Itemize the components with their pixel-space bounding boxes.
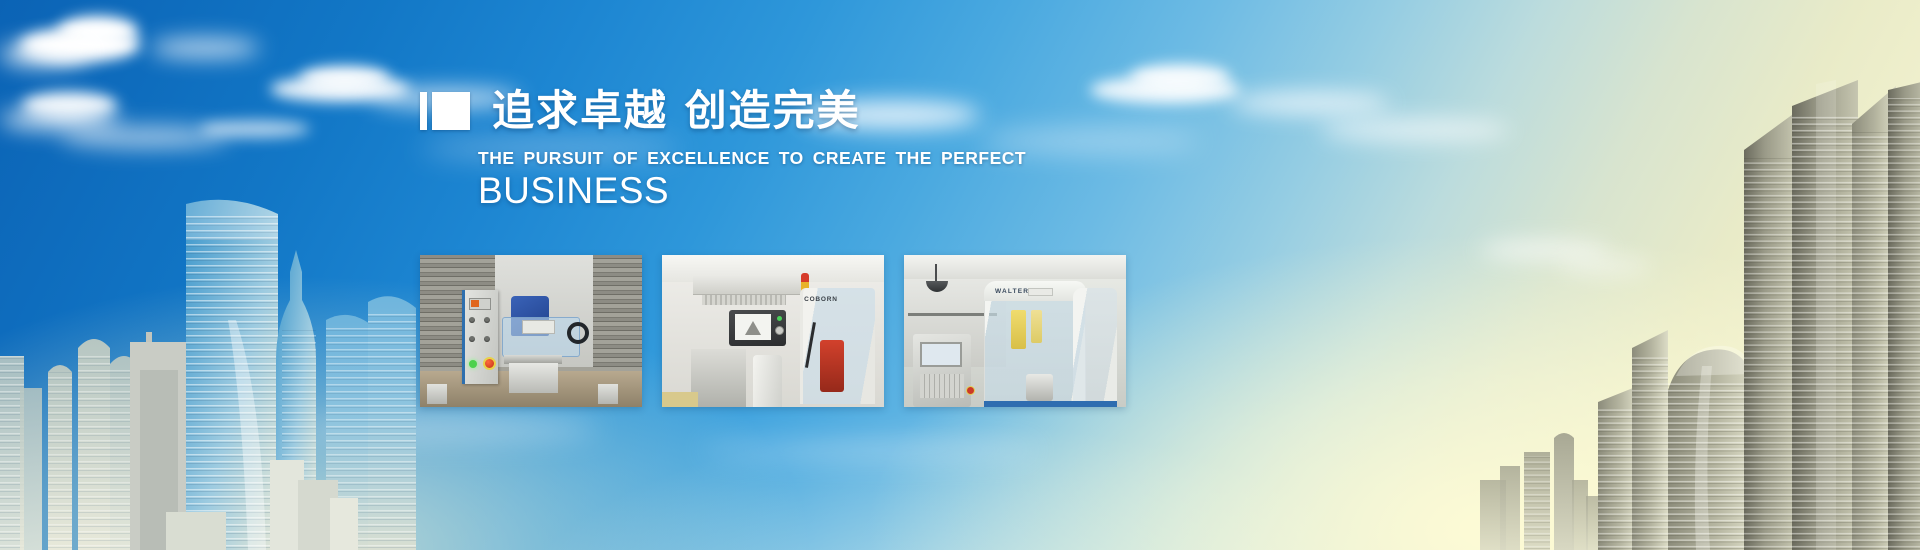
tool-magazine-column [1073,288,1117,407]
machine-type-badge [1028,288,1052,296]
banner-content: 追求卓越 创造完美 THEPURSUITOFEXCELLENCETOCREATE… [420,0,1140,550]
cnc-keypad [920,374,964,398]
machine-photo-strip: COBORN [420,255,1126,407]
walter-machine-photo[interactable]: WALTER [904,255,1126,407]
coborn-brand-label: COBORN [804,296,838,303]
vent-slats [702,295,786,306]
column-base-stripe [1073,401,1117,407]
logo-square-shape [432,92,470,130]
spindle-housing [1026,374,1053,401]
lamp-stem [935,264,937,282]
shop-ceiling [904,255,1126,279]
monitor-screen [735,314,771,340]
logo-bar-shape [420,92,427,130]
power-indicator-light [469,360,477,368]
floor-bin-right [598,384,618,404]
subline-word-2: OF [613,148,638,168]
headline-row: 追求卓越 创造完美 [420,90,861,132]
subline-english: THEPURSUITOFEXCELLENCETOCREATETHEPERFECT [478,148,1026,169]
subline-word-0: THE [478,148,515,168]
floor-bin-left [427,384,447,404]
subline-word-1: PURSUIT [524,148,604,168]
photo-1-scene [420,255,642,407]
photo-3-scene: WALTER [904,255,1126,407]
subline-word-3: EXCELLENCE [647,148,770,168]
yellow-guard-panel-1 [1011,310,1027,350]
side-cabinet [691,349,747,407]
red-machine-part [820,340,844,392]
coolant-drum [753,355,782,407]
headline-chinese: 追求卓越 创造完美 [492,90,861,132]
cnc-screen [920,342,962,368]
emergency-stop-button [966,386,975,395]
bar-block-logo-icon [420,92,470,130]
subline-word-4: TO [779,148,804,168]
grinder-base [509,363,558,393]
overhead-beam [693,276,804,294]
subline-word-6: THE [895,148,932,168]
handwheel-icon [567,322,589,344]
grinder-label-plate [522,320,555,334]
control-display [469,298,491,310]
control-knob-3 [469,336,475,342]
subline-word-7: PERFECT [941,148,1026,168]
control-knob-4 [484,336,490,342]
hero-banner: 追求卓越 创造完美 THEPURSUITOFEXCELLENCETOCREATE… [0,0,1920,550]
subline-word-5: CREATE [813,148,887,168]
surface-grinder-photo[interactable] [420,255,642,407]
business-word: BUSINESS [478,170,669,212]
machine-base-stripe [984,401,1086,407]
coborn-machine-photo[interactable]: COBORN [662,255,884,407]
floor-marking [662,392,698,407]
yellow-guard-panel-2 [1031,310,1042,343]
walter-brand-label: WALTER [995,288,1029,295]
photo-2-scene: COBORN [662,255,884,407]
